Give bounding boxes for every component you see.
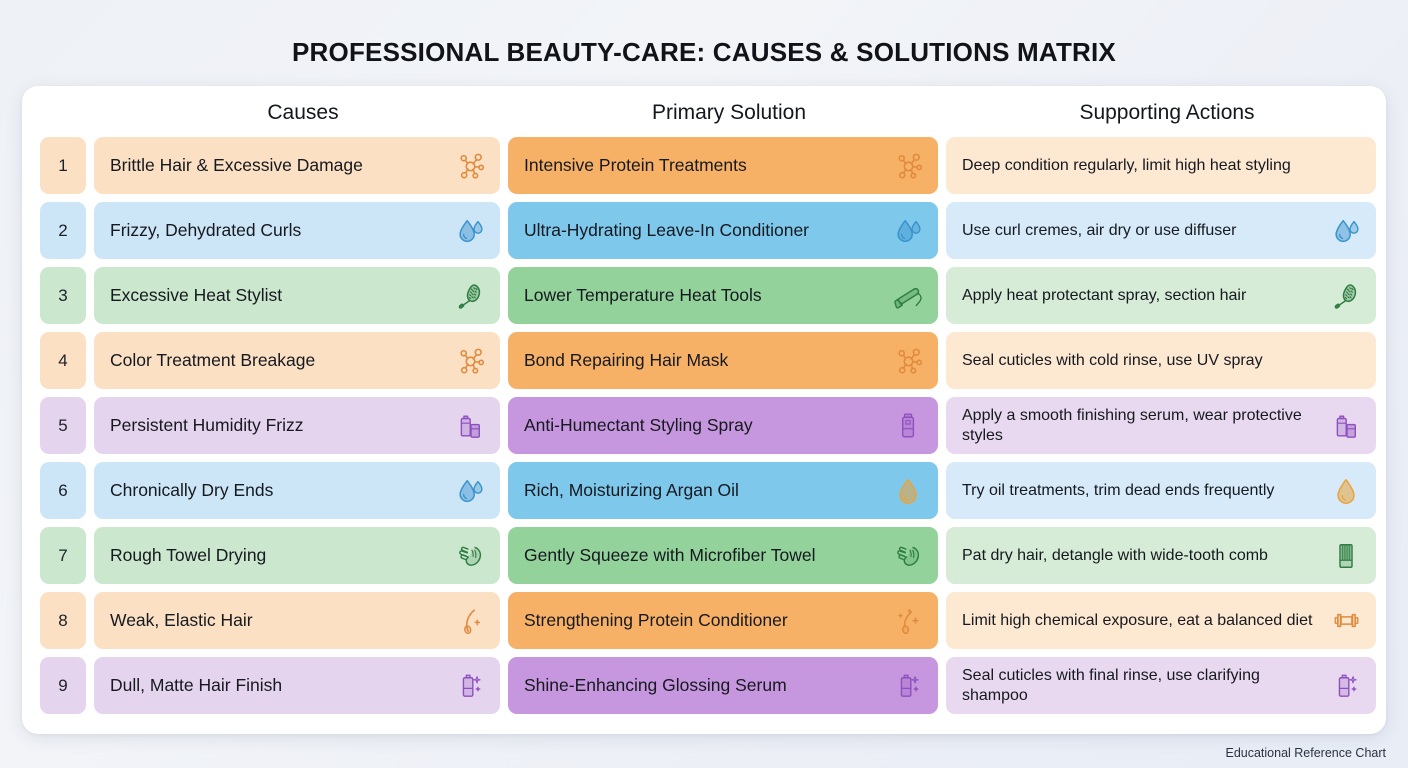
header-primary-solution: Primary Solution — [514, 101, 944, 125]
cause-cell[interactable]: Rough Towel Drying — [94, 527, 500, 584]
cause-cell-text: Dull, Matte Hair Finish — [110, 675, 453, 696]
table-row: 2Frizzy, Dehydrated CurlsUltra-Hydrating… — [40, 202, 1368, 259]
matrix-card: Causes Primary Solution Supporting Actio… — [22, 86, 1386, 734]
primary-solution-cell[interactable]: Shine-Enhancing Glossing Serum — [508, 657, 938, 714]
cell-gap-2 — [500, 267, 508, 324]
water-drop-icon — [891, 214, 925, 248]
row-number-badge: 8 — [40, 592, 86, 649]
supporting-actions-cell[interactable]: Try oil treatments, trim dead ends frequ… — [946, 462, 1376, 519]
oil-drop-icon — [1329, 474, 1363, 508]
oil-drop-icon — [891, 474, 925, 508]
table-row: 1Brittle Hair & Excessive DamageIntensiv… — [40, 137, 1368, 194]
cell-gap-1 — [86, 332, 94, 389]
supporting-actions-cell-text: Pat dry hair, detangle with wide-tooth c… — [962, 546, 1329, 566]
hairbrush-icon — [453, 279, 487, 313]
cell-gap-2 — [500, 202, 508, 259]
table-row: 9Dull, Matte Hair FinishShine-Enhancing … — [40, 657, 1368, 714]
no-icon — [1329, 149, 1363, 183]
cell-gap-3 — [938, 592, 946, 649]
cell-gap-1 — [86, 137, 94, 194]
towel-hand-icon — [891, 539, 925, 573]
cell-gap-3 — [938, 527, 946, 584]
supporting-actions-cell[interactable]: Apply a smooth finishing serum, wear pro… — [946, 397, 1376, 454]
serum-sparkle-icon — [453, 669, 487, 703]
molecule-icon — [453, 149, 487, 183]
cause-cell[interactable]: Dull, Matte Hair Finish — [94, 657, 500, 714]
no-icon — [1329, 344, 1363, 378]
matrix-rows: 1Brittle Hair & Excessive DamageIntensiv… — [40, 134, 1368, 714]
primary-solution-cell-text: Rich, Moisturizing Argan Oil — [524, 480, 891, 501]
primary-solution-cell[interactable]: Ultra-Hydrating Leave-In Conditioner — [508, 202, 938, 259]
page-title: PROFESSIONAL BEAUTY-CARE: CAUSES & SOLUT… — [0, 0, 1408, 67]
cause-cell-text: Brittle Hair & Excessive Damage — [110, 155, 453, 176]
row-number-badge: 3 — [40, 267, 86, 324]
cell-gap-1 — [86, 462, 94, 519]
water-drop-icon — [453, 474, 487, 508]
table-row: 4Color Treatment BreakageBond Repairing … — [40, 332, 1368, 389]
cell-gap-1 — [86, 397, 94, 454]
molecule-icon — [453, 344, 487, 378]
cell-gap-3 — [938, 462, 946, 519]
primary-solution-cell-text: Lower Temperature Heat Tools — [524, 285, 891, 306]
primary-solution-cell-text: Anti-Humectant Styling Spray — [524, 415, 891, 436]
lotion-bottles-icon — [453, 409, 487, 443]
cell-gap-1 — [86, 592, 94, 649]
cause-cell-text: Rough Towel Drying — [110, 545, 453, 566]
supporting-actions-cell-text: Seal cuticles with cold rinse, use UV sp… — [962, 351, 1329, 371]
supporting-actions-cell[interactable]: Pat dry hair, detangle with wide-tooth c… — [946, 527, 1376, 584]
cell-gap-2 — [500, 332, 508, 389]
cause-cell-text: Chronically Dry Ends — [110, 480, 453, 501]
cell-gap-3 — [938, 332, 946, 389]
supporting-actions-cell-text: Deep condition regularly, limit high hea… — [962, 156, 1329, 176]
cell-gap-1 — [86, 202, 94, 259]
supporting-actions-cell-text: Seal cuticles with final rinse, use clar… — [962, 666, 1329, 705]
lotion-bottles-icon — [1329, 409, 1363, 443]
cell-gap-1 — [86, 527, 94, 584]
cell-gap-2 — [500, 137, 508, 194]
cause-cell-text: Excessive Heat Stylist — [110, 285, 453, 306]
primary-solution-cell-text: Intensive Protein Treatments — [524, 155, 891, 176]
supporting-actions-cell-text: Try oil treatments, trim dead ends frequ… — [962, 481, 1329, 501]
cell-gap-1 — [86, 657, 94, 714]
molecule-icon — [891, 344, 925, 378]
cause-cell[interactable]: Excessive Heat Stylist — [94, 267, 500, 324]
dumbbell-icon — [1329, 604, 1363, 638]
hair-follicle-icon — [453, 604, 487, 638]
hairbrush-icon — [1329, 279, 1363, 313]
header-causes: Causes — [100, 101, 506, 125]
primary-solution-cell-text: Ultra-Hydrating Leave-In Conditioner — [524, 220, 891, 241]
spray-can-icon — [891, 409, 925, 443]
cause-cell[interactable]: Persistent Humidity Frizz — [94, 397, 500, 454]
serum-sparkle-icon — [891, 669, 925, 703]
row-number-badge: 7 — [40, 527, 86, 584]
row-number-badge: 6 — [40, 462, 86, 519]
supporting-actions-cell[interactable]: Use curl cremes, air dry or use diffuser — [946, 202, 1376, 259]
supporting-actions-cell[interactable]: Apply heat protectant spray, section hai… — [946, 267, 1376, 324]
header-supporting-actions: Supporting Actions — [952, 101, 1382, 125]
cause-cell-text: Frizzy, Dehydrated Curls — [110, 220, 453, 241]
row-number-badge: 1 — [40, 137, 86, 194]
cause-cell[interactable]: Frizzy, Dehydrated Curls — [94, 202, 500, 259]
cause-cell[interactable]: Chronically Dry Ends — [94, 462, 500, 519]
cell-gap-2 — [500, 657, 508, 714]
towel-hand-icon — [453, 539, 487, 573]
cell-gap-2 — [500, 462, 508, 519]
water-drop-icon — [453, 214, 487, 248]
supporting-actions-cell[interactable]: Limit high chemical exposure, eat a bala… — [946, 592, 1376, 649]
row-number-badge: 5 — [40, 397, 86, 454]
cause-cell[interactable]: Weak, Elastic Hair — [94, 592, 500, 649]
cause-cell-text: Color Treatment Breakage — [110, 350, 453, 371]
row-number-badge: 4 — [40, 332, 86, 389]
comb-icon — [1329, 539, 1363, 573]
primary-solution-cell[interactable]: Gently Squeeze with Microfiber Towel — [508, 527, 938, 584]
cell-gap-3 — [938, 137, 946, 194]
table-row: 3Excessive Heat StylistLower Temperature… — [40, 267, 1368, 324]
primary-solution-cell[interactable]: Strengthening Protein Conditioner — [508, 592, 938, 649]
cell-gap-2 — [500, 397, 508, 454]
primary-solution-cell[interactable]: Lower Temperature Heat Tools — [508, 267, 938, 324]
primary-solution-cell[interactable]: Anti-Humectant Styling Spray — [508, 397, 938, 454]
cause-cell-text: Persistent Humidity Frizz — [110, 415, 453, 436]
primary-solution-cell-text: Gently Squeeze with Microfiber Towel — [524, 545, 891, 566]
supporting-actions-cell-text: Use curl cremes, air dry or use diffuser — [962, 221, 1329, 241]
table-row: 8Weak, Elastic HairStrengthening Protein… — [40, 592, 1368, 649]
cause-cell[interactable]: Brittle Hair & Excessive Damage — [94, 137, 500, 194]
table-row: 6Chronically Dry EndsRich, Moisturizing … — [40, 462, 1368, 519]
primary-solution-cell[interactable]: Rich, Moisturizing Argan Oil — [508, 462, 938, 519]
column-headers: Causes Primary Solution Supporting Actio… — [40, 86, 1368, 134]
primary-solution-cell[interactable]: Bond Repairing Hair Mask — [508, 332, 938, 389]
supporting-actions-cell-text: Apply heat protectant spray, section hai… — [962, 286, 1329, 306]
table-row: 7Rough Towel DryingGently Squeeze with M… — [40, 527, 1368, 584]
supporting-actions-cell[interactable]: Seal cuticles with final rinse, use clar… — [946, 657, 1376, 714]
hair-follicle-plus-icon — [891, 604, 925, 638]
row-number-badge: 2 — [40, 202, 86, 259]
cause-cell[interactable]: Color Treatment Breakage — [94, 332, 500, 389]
cell-gap-3 — [938, 202, 946, 259]
cell-gap-2 — [500, 592, 508, 649]
cell-gap-1 — [86, 267, 94, 324]
supporting-actions-cell-text: Apply a smooth finishing serum, wear pro… — [962, 406, 1329, 445]
primary-solution-cell[interactable]: Intensive Protein Treatments — [508, 137, 938, 194]
supporting-actions-cell[interactable]: Deep condition regularly, limit high hea… — [946, 137, 1376, 194]
cell-gap-3 — [938, 657, 946, 714]
cell-gap-3 — [938, 397, 946, 454]
cause-cell-text: Weak, Elastic Hair — [110, 610, 453, 631]
footer-note: Educational Reference Chart — [1225, 746, 1386, 760]
cell-gap-2 — [500, 527, 508, 584]
cell-gap-3 — [938, 267, 946, 324]
molecule-icon — [891, 149, 925, 183]
primary-solution-cell-text: Strengthening Protein Conditioner — [524, 610, 891, 631]
flat-iron-icon — [891, 279, 925, 313]
row-number-badge: 9 — [40, 657, 86, 714]
supporting-actions-cell-text: Limit high chemical exposure, eat a bala… — [962, 611, 1329, 631]
water-drop-icon — [1329, 214, 1363, 248]
primary-solution-cell-text: Bond Repairing Hair Mask — [524, 350, 891, 371]
table-row: 5Persistent Humidity FrizzAnti-Humectant… — [40, 397, 1368, 454]
primary-solution-cell-text: Shine-Enhancing Glossing Serum — [524, 675, 891, 696]
serum-sparkle-icon — [1329, 669, 1363, 703]
supporting-actions-cell[interactable]: Seal cuticles with cold rinse, use UV sp… — [946, 332, 1376, 389]
